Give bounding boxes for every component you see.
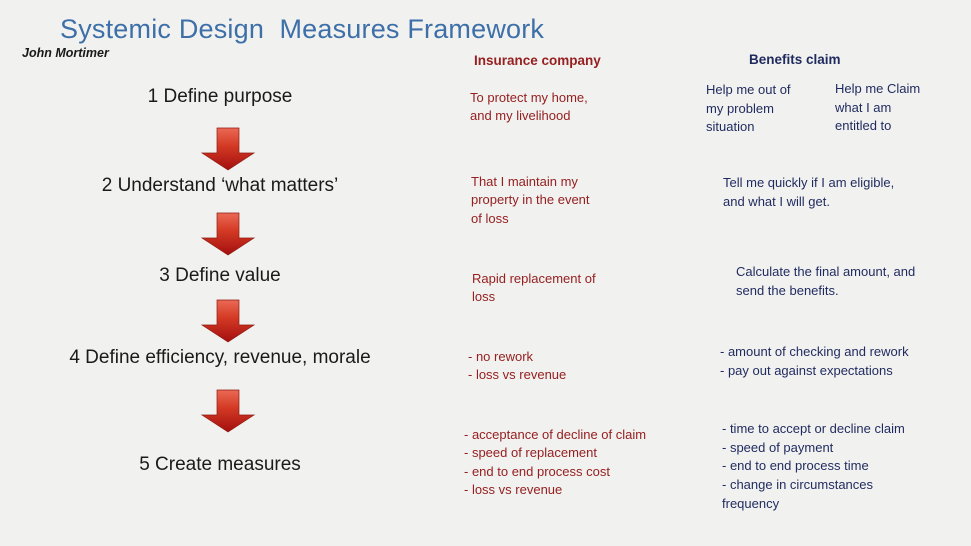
insurance-entry-4: - no rework - loss vs revenue (468, 348, 566, 385)
down-arrow-icon (200, 299, 256, 343)
step-label-5: 5 Create measures (0, 454, 440, 476)
step-label-1: 1 Define purpose (0, 86, 440, 108)
down-arrow-icon (200, 389, 256, 433)
benefits-entry-4: - amount of checking and rework - pay ou… (720, 343, 909, 380)
insurance-entry-1: To protect my home, and my livelihood (470, 89, 588, 126)
slide-canvas: Systemic Design Measures Framework John … (0, 0, 971, 546)
insurance-entry-2: That I maintain my property in the event… (471, 173, 590, 228)
step-label-4: 4 Define efficiency, revenue, morale (0, 347, 440, 369)
benefits-entry-5: - time to accept or decline claim - spee… (722, 420, 905, 514)
page-title: Systemic Design Measures Framework (60, 14, 544, 45)
author-byline: John Mortimer (22, 46, 109, 60)
column-heading-insurance: Insurance company (474, 53, 601, 68)
step-label-2: 2 Understand ‘what matters’ (0, 175, 440, 197)
benefits-entry-2: Tell me quickly if I am eligible, and wh… (723, 174, 894, 211)
down-arrow-icon (200, 212, 256, 256)
benefits-entry-3: Calculate the final amount, and send the… (736, 263, 915, 300)
benefits-entry-1-right: Help me Claim what I am entitled to (835, 80, 920, 136)
column-heading-benefits: Benefits claim (749, 52, 841, 67)
benefits-entry-1-left: Help me out of my problem situation (706, 81, 791, 137)
insurance-entry-3: Rapid replacement of loss (472, 270, 596, 307)
down-arrow-icon (200, 127, 256, 171)
insurance-entry-5: - acceptance of decline of claim - speed… (464, 426, 646, 500)
step-label-3: 3 Define value (0, 265, 440, 287)
